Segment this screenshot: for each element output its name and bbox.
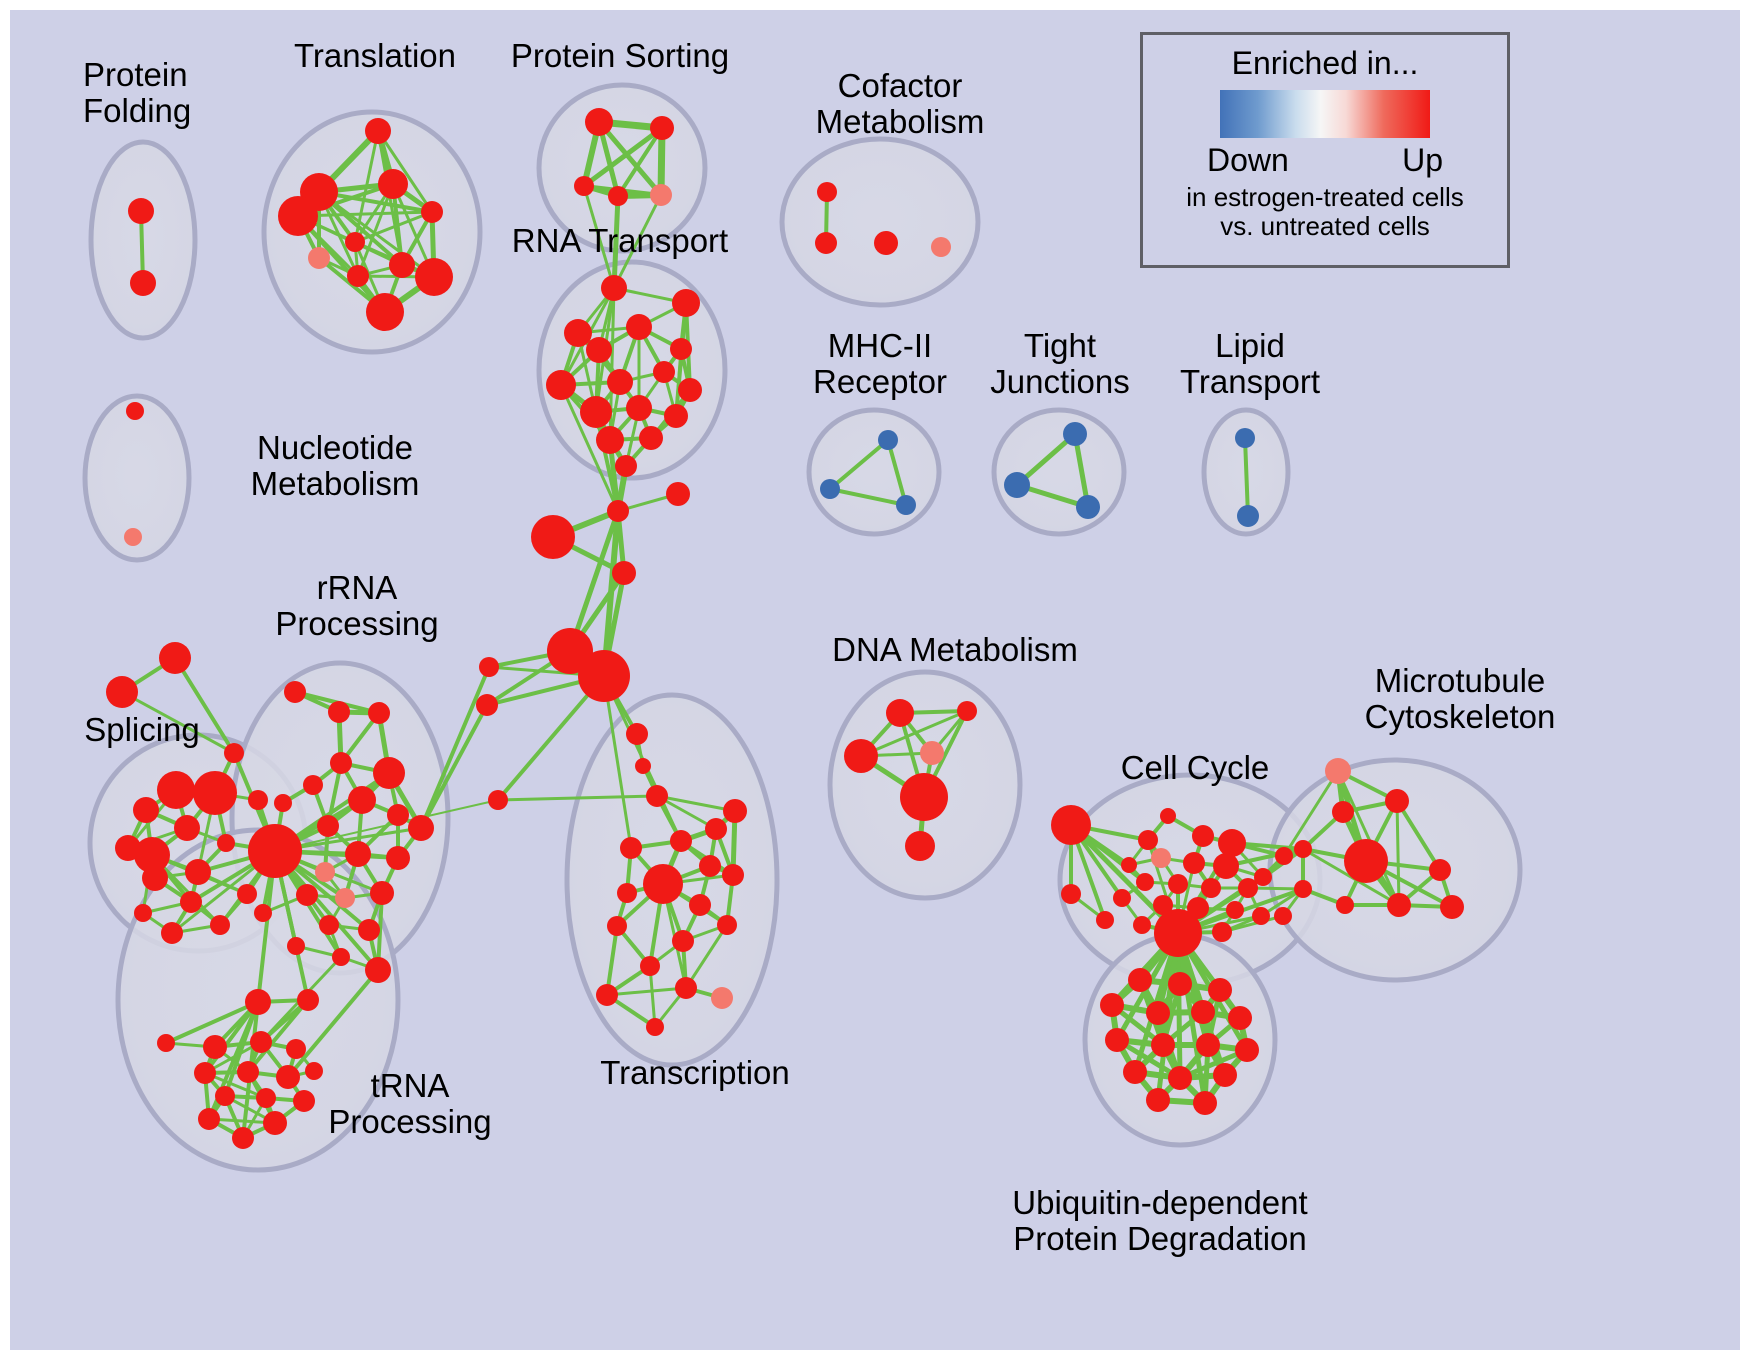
network-node[interactable] — [317, 815, 339, 837]
network-node[interactable] — [580, 396, 612, 428]
network-node[interactable] — [640, 956, 660, 976]
network-node[interactable] — [1061, 884, 1081, 904]
network-node[interactable] — [159, 642, 191, 674]
network-node[interactable] — [564, 319, 592, 347]
network-node[interactable] — [250, 1031, 272, 1053]
legend-endpoint-labels: Down Up — [1207, 142, 1443, 179]
network-node[interactable] — [1325, 758, 1351, 784]
cluster-label-ubiquitin-degradation: Ubiquitin-dependent Protein Degradation — [960, 1185, 1360, 1256]
legend-color-gradient-bar — [1220, 90, 1430, 138]
network-node[interactable] — [612, 561, 636, 585]
network-node[interactable] — [1146, 1088, 1170, 1112]
network-node[interactable] — [1332, 801, 1354, 823]
network-node[interactable] — [672, 289, 700, 317]
network-node[interactable] — [1228, 1006, 1252, 1030]
network-node[interactable] — [878, 430, 898, 450]
network-node[interactable] — [389, 252, 415, 278]
network-node[interactable] — [1336, 896, 1354, 914]
cluster-label-microtubule-cytoskeleton: Microtubule Cytoskeleton — [1290, 663, 1630, 734]
network-node[interactable] — [161, 922, 183, 944]
network-node[interactable] — [1138, 830, 1158, 850]
network-node[interactable] — [1151, 1033, 1175, 1057]
network-node[interactable] — [608, 186, 628, 206]
network-node[interactable] — [345, 232, 365, 252]
network-node[interactable] — [817, 182, 837, 202]
network-node[interactable] — [578, 650, 630, 702]
network-node[interactable] — [574, 176, 594, 196]
network-node[interactable] — [297, 989, 319, 1011]
network-node[interactable] — [1076, 495, 1100, 519]
network-node[interactable] — [278, 196, 318, 236]
network-node[interactable] — [900, 773, 948, 821]
network-node[interactable] — [626, 314, 652, 340]
network-node[interactable] — [650, 116, 674, 140]
network-node[interactable] — [596, 984, 618, 1006]
network-node[interactable] — [274, 794, 292, 812]
network-node[interactable] — [1004, 472, 1030, 498]
network-node[interactable] — [348, 786, 376, 814]
network-node[interactable] — [1051, 805, 1091, 845]
network-node[interactable] — [635, 758, 651, 774]
network-node[interactable] — [248, 824, 302, 878]
network-node[interactable] — [1123, 1060, 1147, 1084]
network-node[interactable] — [617, 883, 637, 903]
network-node[interactable] — [1136, 873, 1154, 891]
network-node[interactable] — [1344, 839, 1388, 883]
network-node[interactable] — [194, 1062, 216, 1084]
network-node[interactable] — [174, 815, 200, 841]
hull-tight — [994, 410, 1124, 534]
network-node[interactable] — [210, 915, 230, 935]
network-node[interactable] — [134, 837, 170, 873]
network-node[interactable] — [1183, 852, 1205, 874]
network-node[interactable] — [1191, 1000, 1215, 1024]
network-node[interactable] — [626, 723, 648, 745]
network-node[interactable] — [620, 837, 642, 859]
network-node[interactable] — [1440, 895, 1464, 919]
network-node[interactable] — [699, 855, 721, 877]
network-node[interactable] — [607, 500, 629, 522]
network-node[interactable] — [1385, 789, 1409, 813]
network-node[interactable] — [626, 395, 652, 421]
network-node[interactable] — [421, 201, 443, 223]
network-node[interactable] — [1105, 1028, 1129, 1052]
network-node[interactable] — [134, 904, 152, 922]
network-node[interactable] — [284, 681, 306, 703]
network-node[interactable] — [308, 247, 330, 269]
network-node[interactable] — [387, 804, 409, 826]
legend-subtitle-line2: vs. untreated cells — [1186, 212, 1463, 241]
network-node[interactable] — [232, 1127, 254, 1149]
network-node[interactable] — [723, 799, 747, 823]
network-node[interactable] — [217, 834, 235, 852]
network-node[interactable] — [128, 198, 154, 224]
network-node[interactable] — [373, 757, 405, 789]
network-node[interactable] — [596, 426, 624, 454]
network-node[interactable] — [1151, 848, 1171, 868]
network-node[interactable] — [1193, 1091, 1217, 1115]
hull-cofactor — [782, 139, 978, 305]
network-node[interactable] — [1213, 853, 1239, 879]
legend-subtitle: in estrogen-treated cells vs. untreated … — [1186, 183, 1463, 241]
network-node[interactable] — [215, 1086, 235, 1106]
network-node[interactable] — [607, 916, 627, 936]
network-node[interactable] — [639, 426, 663, 450]
figure-stage: Protein FoldingTranslationProtein Sortin… — [0, 0, 1750, 1360]
network-node[interactable] — [254, 904, 272, 922]
network-node[interactable] — [248, 790, 268, 810]
network-node[interactable] — [920, 741, 944, 765]
network-node[interactable] — [1128, 968, 1152, 992]
network-node[interactable] — [1294, 840, 1312, 858]
network-node[interactable] — [886, 699, 914, 727]
network-node[interactable] — [1146, 1001, 1170, 1025]
network-node[interactable] — [1154, 909, 1202, 957]
network-node[interactable] — [133, 797, 159, 823]
network-node[interactable] — [931, 237, 951, 257]
network-node[interactable] — [722, 864, 744, 886]
network-node[interactable] — [256, 1088, 276, 1108]
network-node[interactable] — [1254, 868, 1272, 886]
network-node[interactable] — [1096, 911, 1114, 929]
network-node[interactable] — [820, 479, 840, 499]
network-node[interactable] — [957, 701, 977, 721]
network-node[interactable] — [666, 482, 690, 506]
cluster-label-mhcii-receptor: MHC-II Receptor — [770, 328, 990, 399]
network-node[interactable] — [315, 862, 335, 882]
network-node[interactable] — [1168, 874, 1188, 894]
network-node[interactable] — [126, 402, 144, 420]
network-node[interactable] — [705, 818, 727, 840]
network-node[interactable] — [615, 455, 637, 477]
network-node[interactable] — [365, 957, 391, 983]
network-node[interactable] — [607, 369, 633, 395]
network-node[interactable] — [1294, 880, 1312, 898]
network-node[interactable] — [157, 771, 195, 809]
network-node[interactable] — [476, 694, 498, 716]
network-node[interactable] — [601, 275, 627, 301]
network-node[interactable] — [1226, 901, 1244, 919]
network-node[interactable] — [531, 515, 575, 559]
network-node[interactable] — [670, 830, 692, 852]
network-node[interactable] — [1237, 505, 1259, 527]
cluster-label-splicing: Splicing — [52, 712, 232, 748]
network-node[interactable] — [479, 657, 499, 677]
network-node[interactable] — [653, 361, 675, 383]
network-node[interactable] — [286, 1039, 306, 1059]
network-node[interactable] — [1387, 893, 1411, 917]
network-node[interactable] — [1100, 993, 1124, 1017]
network-node[interactable] — [1429, 859, 1451, 881]
network-node[interactable] — [368, 702, 390, 724]
network-node[interactable] — [198, 1108, 220, 1130]
cluster-label-lipid-transport: Lipid Transport — [1150, 328, 1350, 399]
network-node[interactable] — [157, 1034, 175, 1052]
network-node[interactable] — [408, 815, 434, 841]
network-node[interactable] — [1160, 808, 1176, 824]
network-node[interactable] — [678, 378, 702, 402]
network-node[interactable] — [585, 108, 613, 136]
network-node[interactable] — [711, 987, 733, 1009]
network-node[interactable] — [237, 884, 257, 904]
network-edge — [1397, 801, 1399, 905]
cluster-label-rna-transport: RNA Transport — [455, 223, 785, 259]
cluster-label-tight-junctions: Tight Junctions — [960, 328, 1160, 399]
network-node[interactable] — [1121, 857, 1137, 873]
network-node[interactable] — [1192, 825, 1214, 847]
network-node[interactable] — [378, 169, 408, 199]
network-node[interactable] — [328, 701, 350, 723]
network-node[interactable] — [586, 337, 612, 363]
cluster-label-cell-cycle: Cell Cycle — [1075, 750, 1315, 786]
legend-title: Enriched in... — [1232, 45, 1419, 82]
network-node[interactable] — [366, 293, 404, 331]
network-node[interactable] — [896, 495, 916, 515]
network-node[interactable] — [1208, 978, 1232, 1002]
network-node[interactable] — [332, 948, 350, 966]
color-legend: Enriched in... Down Up in estrogen-treat… — [1140, 32, 1510, 268]
network-node[interactable] — [237, 1061, 259, 1083]
cluster-label-rrna-processing: rRNA Processing — [232, 570, 482, 641]
network-node[interactable] — [1235, 428, 1255, 448]
network-node[interactable] — [1113, 889, 1131, 907]
cluster-label-dna-metabolism: DNA Metabolism — [795, 632, 1115, 668]
network-node[interactable] — [415, 258, 453, 296]
network-node[interactable] — [546, 370, 576, 400]
network-node[interactable] — [1213, 1063, 1237, 1087]
network-node[interactable] — [815, 232, 837, 254]
network-node[interactable] — [672, 930, 694, 952]
network-node[interactable] — [844, 739, 878, 773]
hull-mhcii — [809, 410, 939, 534]
network-node[interactable] — [1168, 1066, 1192, 1090]
network-node[interactable] — [203, 1035, 227, 1059]
network-node[interactable] — [717, 915, 737, 935]
legend-low-label: Down — [1207, 142, 1289, 179]
network-node[interactable] — [106, 676, 138, 708]
network-node[interactable] — [1275, 847, 1293, 865]
cluster-label-trna-processing: tRNA Processing — [280, 1068, 540, 1139]
cluster-label-cofactor-metabolism: Cofactor Metabolism — [760, 68, 1040, 139]
network-node[interactable] — [1212, 922, 1232, 942]
network-node[interactable] — [874, 231, 898, 255]
network-node[interactable] — [650, 184, 672, 206]
network-node[interactable] — [370, 881, 394, 905]
network-node[interactable] — [185, 859, 211, 885]
network-node[interactable] — [1201, 878, 1221, 898]
network-node[interactable] — [1168, 972, 1192, 996]
network-node[interactable] — [347, 265, 369, 287]
cluster-label-protein-sorting: Protein Sorting — [460, 38, 780, 74]
network-node[interactable] — [646, 785, 668, 807]
network-node[interactable] — [643, 864, 683, 904]
network-node[interactable] — [124, 528, 142, 546]
legend-subtitle-line1: in estrogen-treated cells — [1186, 183, 1463, 212]
network-node[interactable] — [365, 118, 391, 144]
network-node[interactable] — [130, 270, 156, 296]
legend-high-label: Up — [1402, 142, 1443, 179]
network-node[interactable] — [905, 831, 935, 861]
network-node[interactable] — [1252, 907, 1270, 925]
network-node[interactable] — [675, 977, 697, 999]
network-node[interactable] — [180, 891, 202, 913]
network-node[interactable] — [330, 752, 352, 774]
network-node[interactable] — [303, 775, 323, 795]
network-node[interactable] — [287, 937, 305, 955]
network-node[interactable] — [335, 888, 355, 908]
network-node[interactable] — [296, 884, 318, 906]
network-node[interactable] — [193, 771, 237, 815]
network-node[interactable] — [670, 338, 692, 360]
network-node[interactable] — [1133, 916, 1151, 934]
network-node[interactable] — [319, 915, 339, 935]
cluster-label-nucleotide-metabolism: Nucleotide Metabolism — [195, 430, 475, 501]
network-node[interactable] — [646, 1018, 664, 1036]
network-node[interactable] — [345, 841, 371, 867]
cluster-label-transcription: Transcription — [545, 1055, 845, 1091]
network-node[interactable] — [1218, 829, 1246, 857]
network-node[interactable] — [1063, 422, 1087, 446]
network-node[interactable] — [689, 894, 711, 916]
network-node[interactable] — [664, 404, 688, 428]
network-node[interactable] — [386, 846, 410, 870]
network-node[interactable] — [1235, 1038, 1259, 1062]
network-node[interactable] — [358, 919, 380, 941]
network-node[interactable] — [1196, 1033, 1220, 1057]
network-node[interactable] — [488, 790, 508, 810]
network-node[interactable] — [1274, 907, 1292, 925]
network-node[interactable] — [245, 989, 271, 1015]
